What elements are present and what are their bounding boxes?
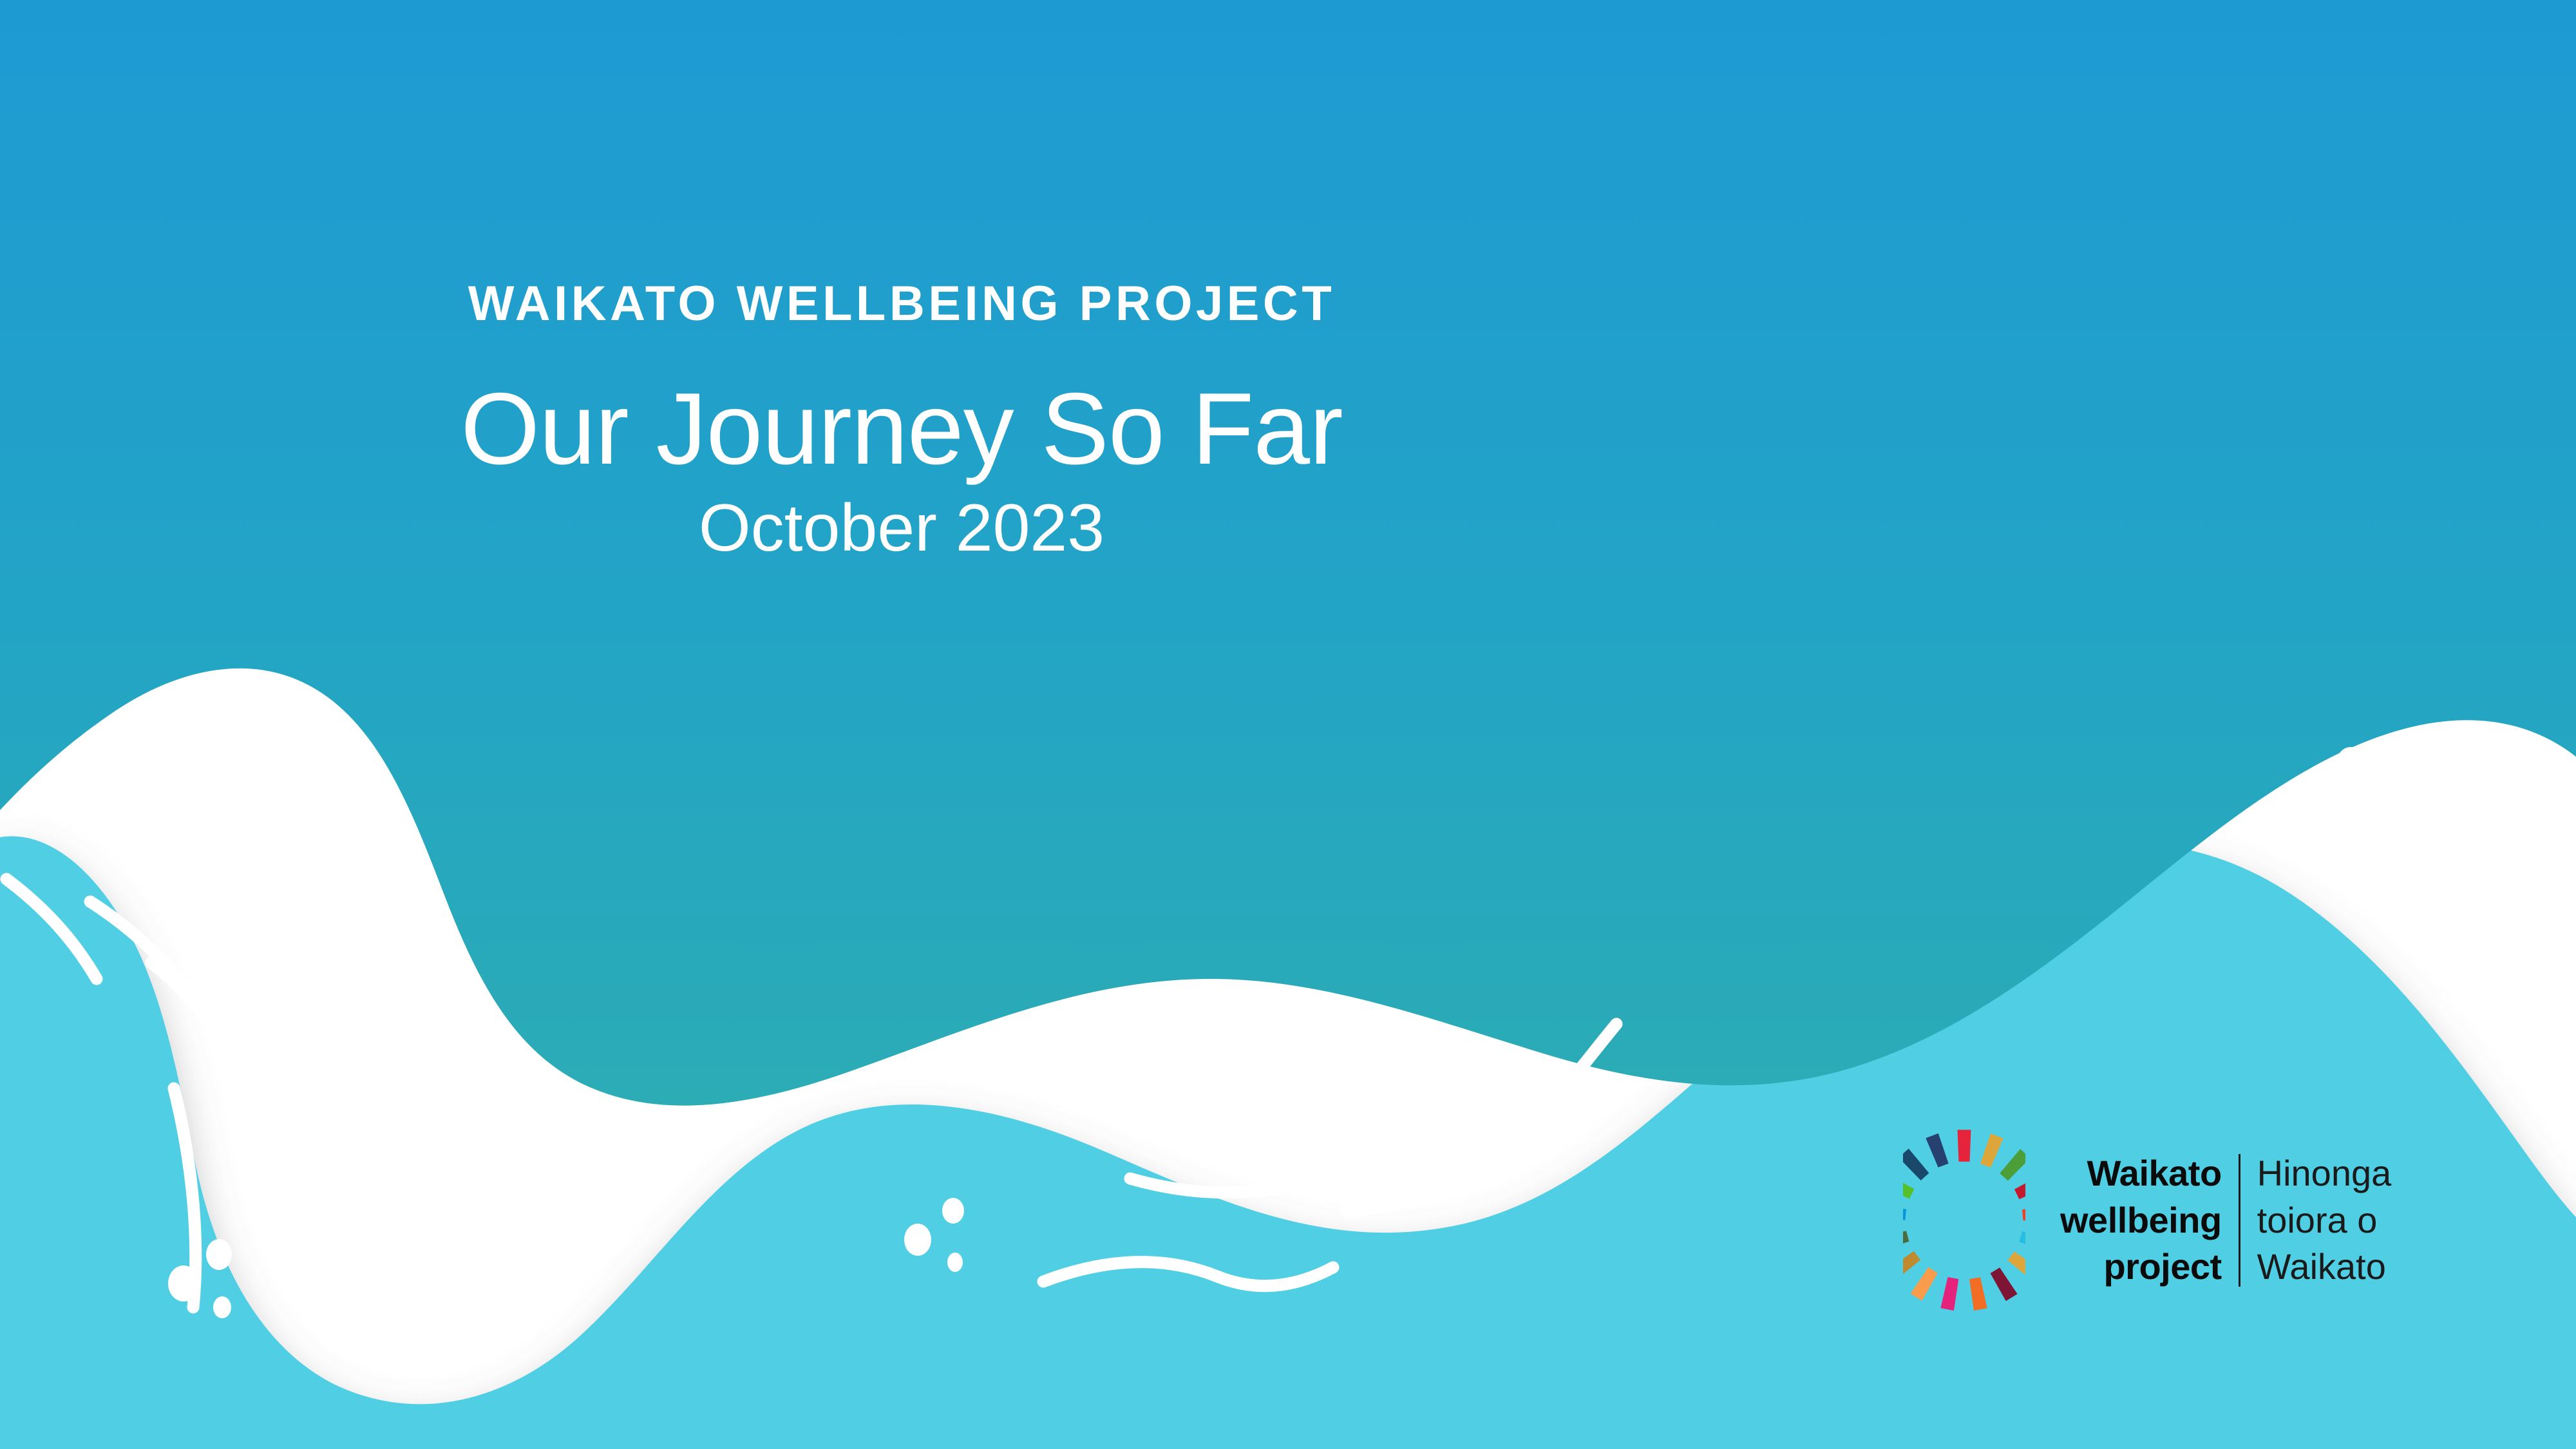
logo-name-en: Waikato wellbeing project	[2060, 1150, 2222, 1291]
logo-name-line-3: project	[2060, 1244, 2222, 1291]
logo-divider-rule	[2239, 1154, 2240, 1287]
logo-maori-line-3: Waikato	[2257, 1244, 2392, 1291]
logo-name-line-1: Waikato	[2060, 1150, 2222, 1197]
logo-name-line-2: wellbeing	[2060, 1197, 2222, 1244]
slide-canvas: WAIKATO WELLBEING PROJECT Our Journey So…	[0, 0, 2576, 1449]
logo-name-mi: Hinonga toiora o Waikato	[2257, 1150, 2392, 1291]
logo-maori-line-1: Hinonga	[2257, 1150, 2392, 1197]
brand-logo: Waikato wellbeing project Hinonga toiora…	[1903, 1124, 2483, 1317]
sdg-colour-wheel-icon	[1903, 1127, 2025, 1314]
logo-wordmark: Waikato wellbeing project Hinonga toiora…	[2060, 1150, 2391, 1291]
logo-maori-line-2: toiora o	[2257, 1197, 2392, 1244]
